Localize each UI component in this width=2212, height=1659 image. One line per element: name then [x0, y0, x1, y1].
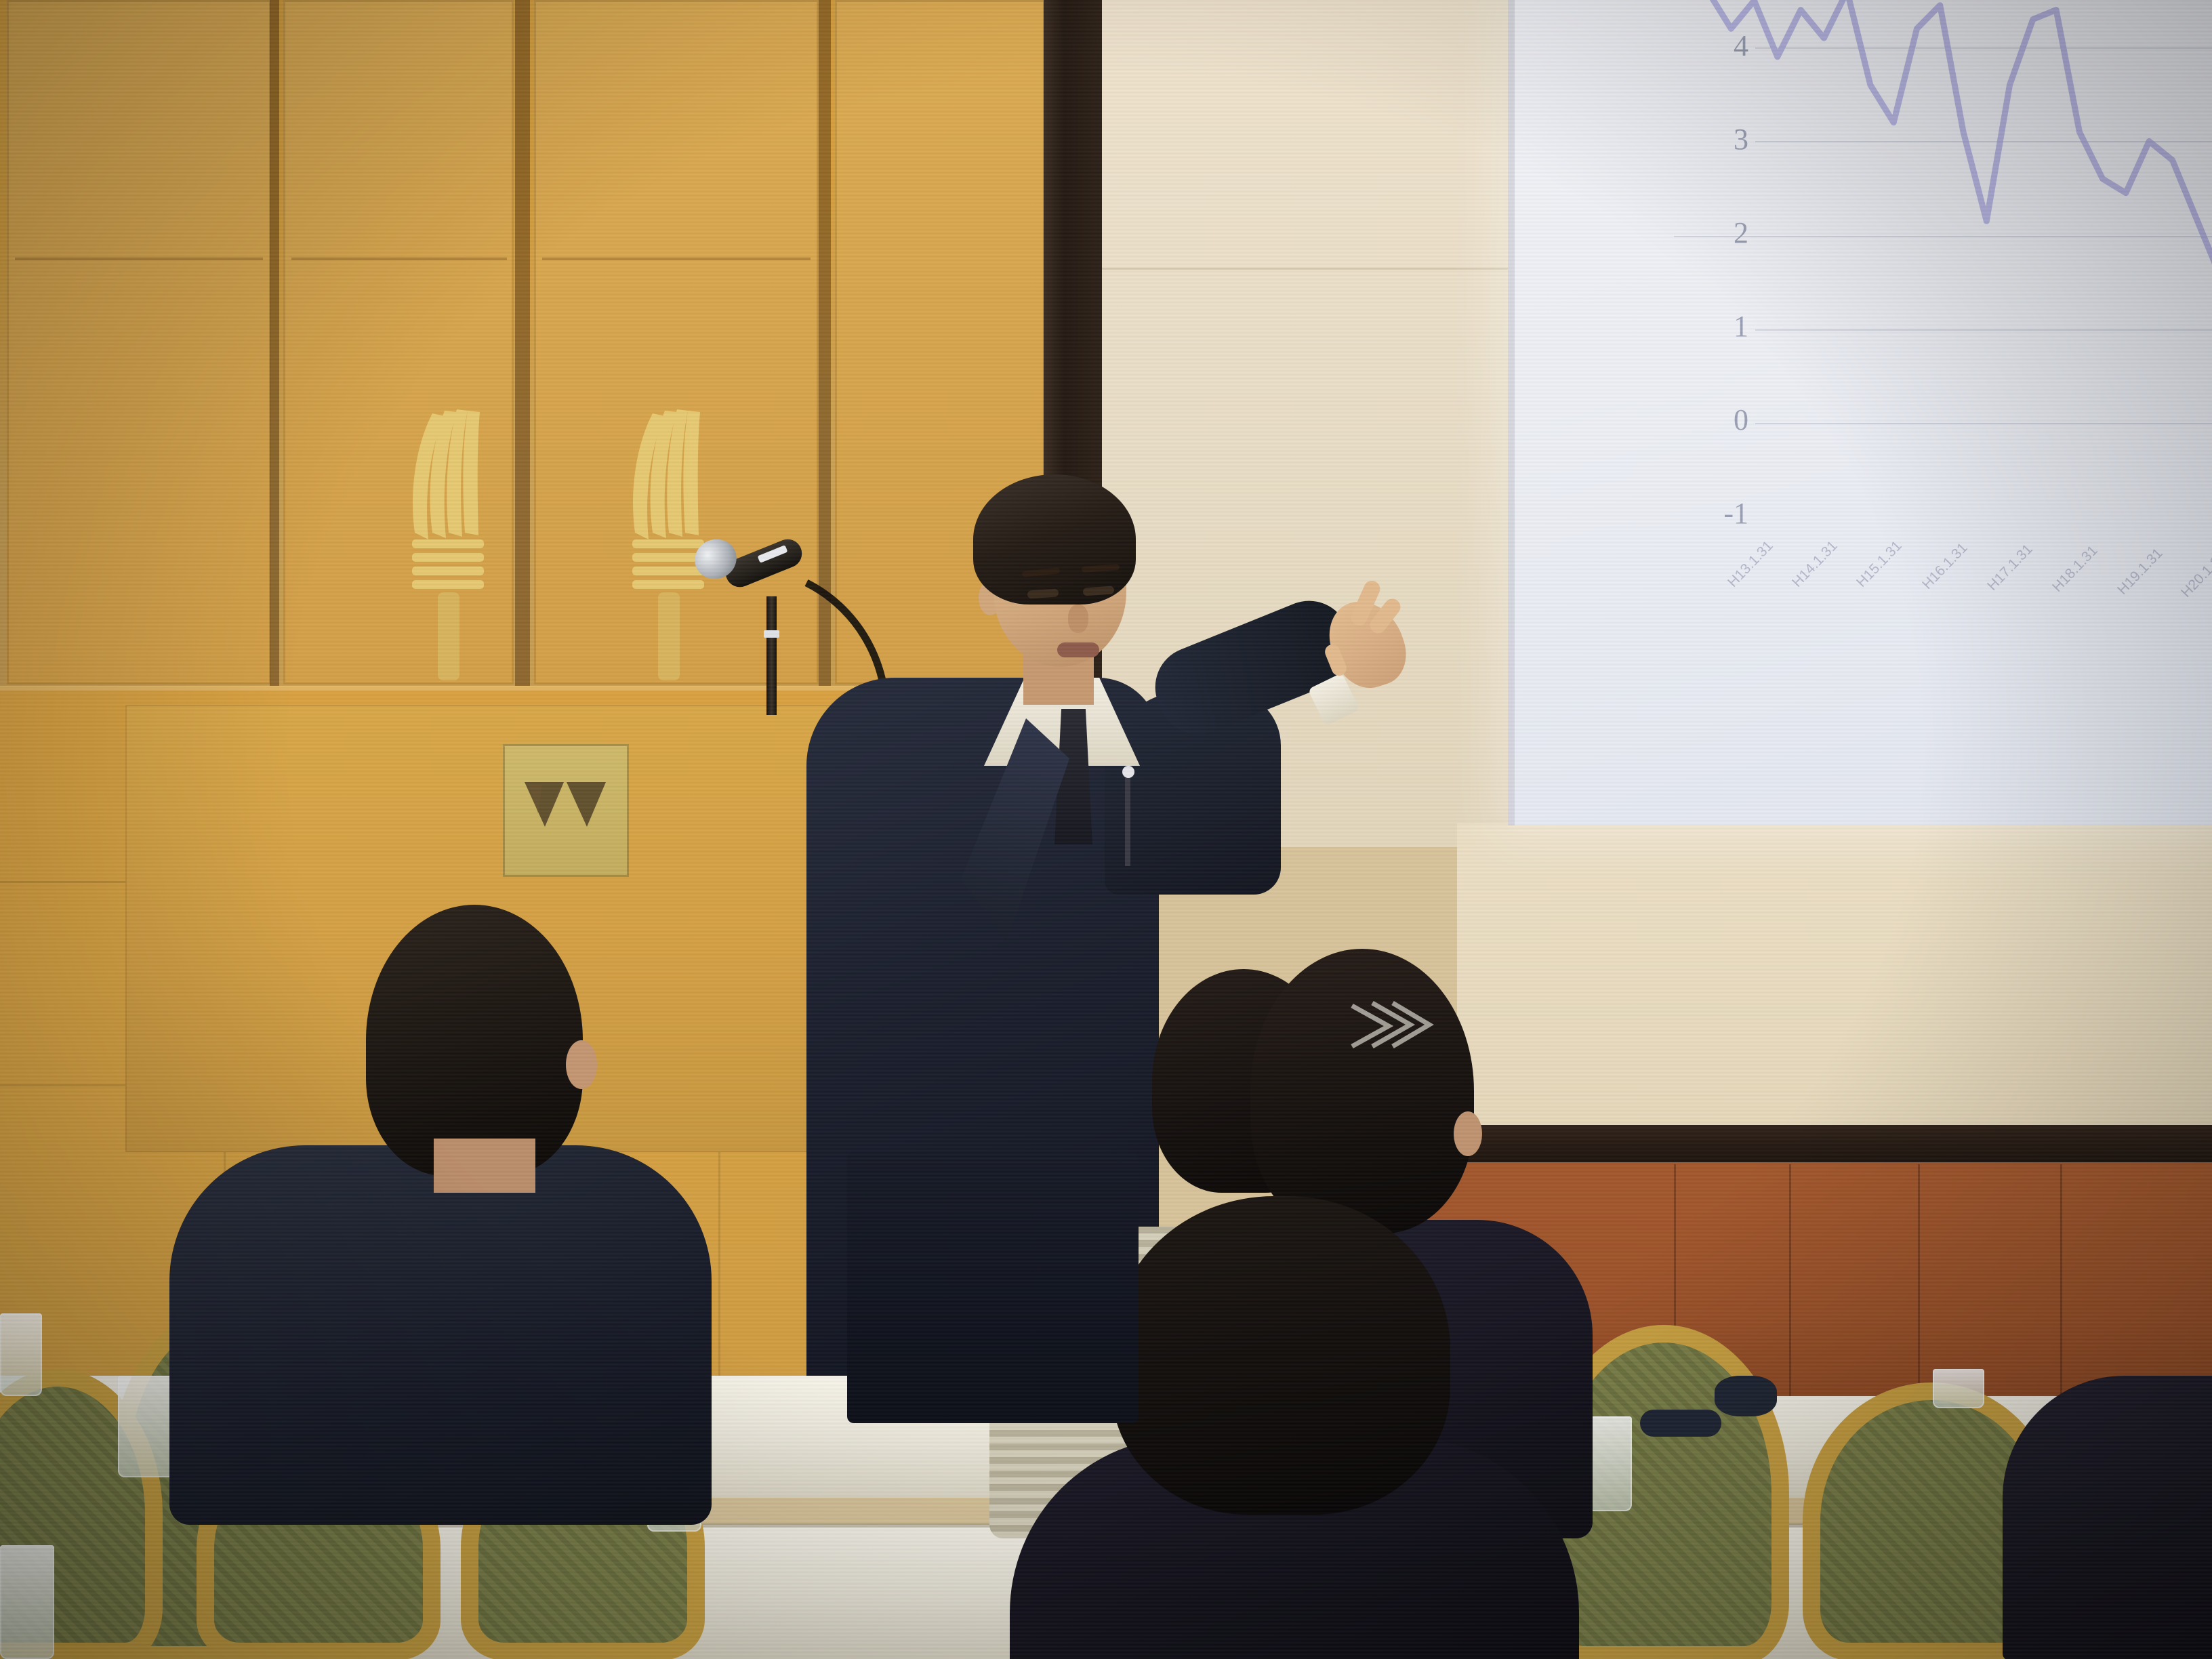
audience-left-neck — [434, 1139, 535, 1193]
chart-line-series — [1508, 0, 2212, 825]
presenter-legs — [847, 1152, 1139, 1423]
door-left-gap — [270, 0, 279, 688]
water-glass-3 — [0, 1545, 54, 1659]
door-left — [7, 0, 271, 684]
chart-line-path — [1708, 0, 2212, 272]
audience-hairclip-ear — [1454, 1111, 1482, 1156]
audience-left-hair — [366, 905, 583, 1176]
dado-seam-2 — [1789, 1164, 1791, 1426]
audience-left-ear — [566, 1040, 597, 1089]
wood-dado-cap — [1423, 1125, 2212, 1166]
presenter-nose — [1068, 605, 1088, 633]
audience-front-hair — [1111, 1196, 1450, 1515]
conference-photograph: 4 3 2 1 0 -1 H13.1.31 H14.1.31 H15.1.31 … — [0, 0, 2212, 1659]
door-left-seam — [15, 258, 263, 260]
presenter-hair — [973, 474, 1136, 605]
audience-left-body — [169, 1145, 712, 1525]
door-center-seam — [291, 258, 507, 260]
presenter-lapel-mic-wire — [1125, 778, 1130, 866]
audience-hairclip-hair — [1250, 949, 1474, 1233]
hair-clip-icon — [1345, 996, 1440, 1071]
venue-logo-icon — [522, 778, 609, 836]
cream-wall-below-screen — [1457, 823, 2212, 1142]
door-right-seam — [542, 258, 811, 260]
presenter-mouth — [1057, 642, 1099, 657]
presenter-lapel-mic-icon — [1122, 766, 1134, 778]
dado-seam-4 — [2060, 1164, 2062, 1426]
water-glass-6 — [1933, 1369, 1984, 1408]
dark-table-item-1 — [1715, 1376, 1777, 1416]
audience-right-body — [2003, 1376, 2212, 1659]
dark-table-item-2 — [1640, 1410, 1721, 1437]
water-glass-1 — [0, 1313, 42, 1396]
